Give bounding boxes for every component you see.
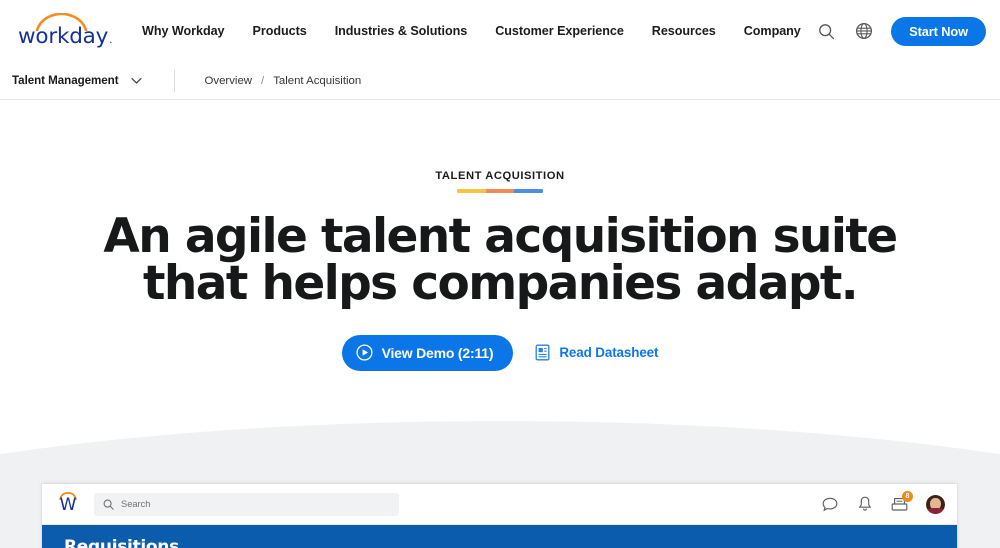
view-demo-button[interactable]: View Demo (2:11) bbox=[342, 335, 514, 371]
breadcrumb-item-talent-acquisition[interactable]: Talent Acquisition bbox=[273, 75, 361, 87]
app-workday-logo-letter: W bbox=[56, 497, 80, 514]
play-circle-icon bbox=[356, 344, 373, 361]
workday-logo[interactable]: workday . bbox=[18, 13, 106, 49]
hero-eyebrow-rule bbox=[457, 189, 543, 193]
chat-bubble-icon[interactable] bbox=[821, 496, 838, 513]
document-icon bbox=[535, 344, 550, 361]
inbox-badge-count: 8 bbox=[902, 491, 913, 502]
top-navigation-bar: workday . Why Workday Products Industrie… bbox=[0, 0, 1000, 62]
product-screenshot-card: W Search bbox=[42, 484, 957, 548]
inbox-tray-icon[interactable]: 8 bbox=[891, 496, 908, 513]
breadcrumb-item-overview[interactable]: Overview bbox=[205, 75, 252, 87]
globe-icon[interactable] bbox=[853, 20, 875, 42]
hero-section: TALENT ACQUISITION An agile talent acqui… bbox=[0, 100, 1000, 371]
hero-eyebrow-label: TALENT ACQUISITION bbox=[0, 100, 1000, 182]
breadcrumb: Overview / Talent Acquisition bbox=[205, 75, 362, 87]
search-icon[interactable] bbox=[815, 20, 837, 42]
avatar-shirt bbox=[927, 508, 944, 514]
avatar[interactable] bbox=[926, 495, 945, 514]
subnav-divider bbox=[174, 70, 175, 92]
read-datasheet-link[interactable]: Read Datasheet bbox=[535, 344, 658, 361]
workday-logo-dot: . bbox=[109, 35, 112, 49]
hero-cta-row: View Demo (2:11) Read Datasheet bbox=[0, 335, 1000, 371]
read-datasheet-link-label: Read Datasheet bbox=[559, 345, 658, 360]
app-search-input[interactable]: Search bbox=[94, 493, 399, 516]
secondary-navigation-bar: Talent Management Overview / Talent Acqu… bbox=[0, 62, 1000, 100]
nav-item-industries-solutions[interactable]: Industries & Solutions bbox=[335, 24, 468, 38]
workday-logo-arc-icon bbox=[35, 13, 88, 31]
headline-line-2: that helps companies adapt. bbox=[0, 260, 1000, 307]
app-page-banner-title: Requisitions bbox=[64, 537, 179, 548]
app-toolbar: W Search bbox=[42, 484, 957, 525]
app-workday-logo[interactable]: W bbox=[56, 491, 80, 517]
view-demo-button-label: View Demo (2:11) bbox=[382, 345, 494, 361]
subnav-title-talent-management[interactable]: Talent Management bbox=[12, 74, 119, 87]
breadcrumb-separator: / bbox=[261, 75, 264, 87]
nav-item-products[interactable]: Products bbox=[253, 24, 307, 38]
workday-talent-acquisition-page: workday . Why Workday Products Industrie… bbox=[0, 0, 1000, 548]
start-now-button[interactable]: Start Now bbox=[891, 17, 986, 46]
nav-item-company[interactable]: Company bbox=[744, 24, 801, 38]
nav-item-customer-experience[interactable]: Customer Experience bbox=[495, 24, 624, 38]
primary-nav-links: Why Workday Products Industries & Soluti… bbox=[142, 24, 801, 38]
bell-icon[interactable] bbox=[856, 496, 873, 513]
nav-item-resources[interactable]: Resources bbox=[652, 24, 716, 38]
nav-right-actions: Start Now bbox=[815, 0, 986, 62]
app-search-placeholder: Search bbox=[121, 499, 150, 509]
nav-item-why-workday[interactable]: Why Workday bbox=[142, 24, 225, 38]
chevron-down-icon[interactable] bbox=[131, 77, 142, 85]
app-page-banner: Requisitions bbox=[42, 525, 957, 548]
search-icon bbox=[103, 499, 114, 510]
page-title: An agile talent acquisition suite that h… bbox=[0, 213, 1000, 307]
app-toolbar-icons: 8 bbox=[821, 495, 945, 514]
